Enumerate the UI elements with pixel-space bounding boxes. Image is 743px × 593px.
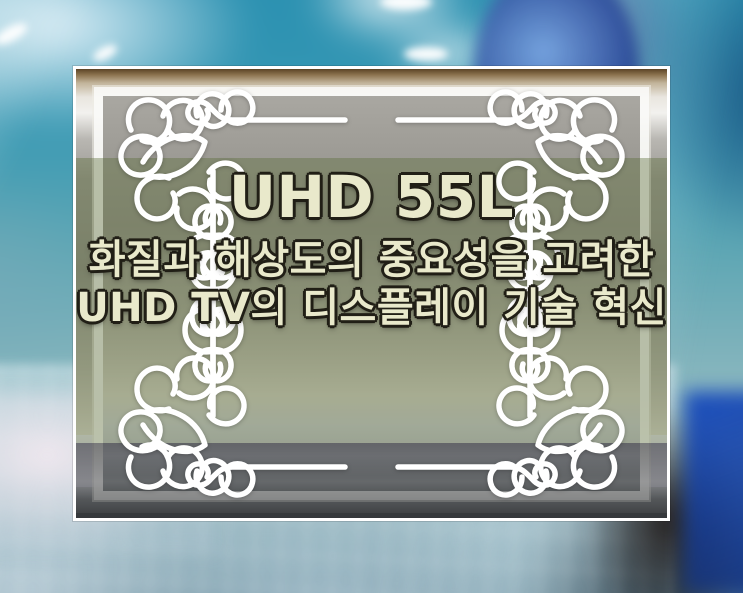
thumbnail-card: UHD 55L 화질과 해상도의 중요성을 고려한 UHD TV의 디스플레이 … <box>0 0 743 593</box>
photo-mat-inner <box>103 96 640 491</box>
photo-mat-border <box>94 87 649 500</box>
photo-panel <box>73 66 670 521</box>
